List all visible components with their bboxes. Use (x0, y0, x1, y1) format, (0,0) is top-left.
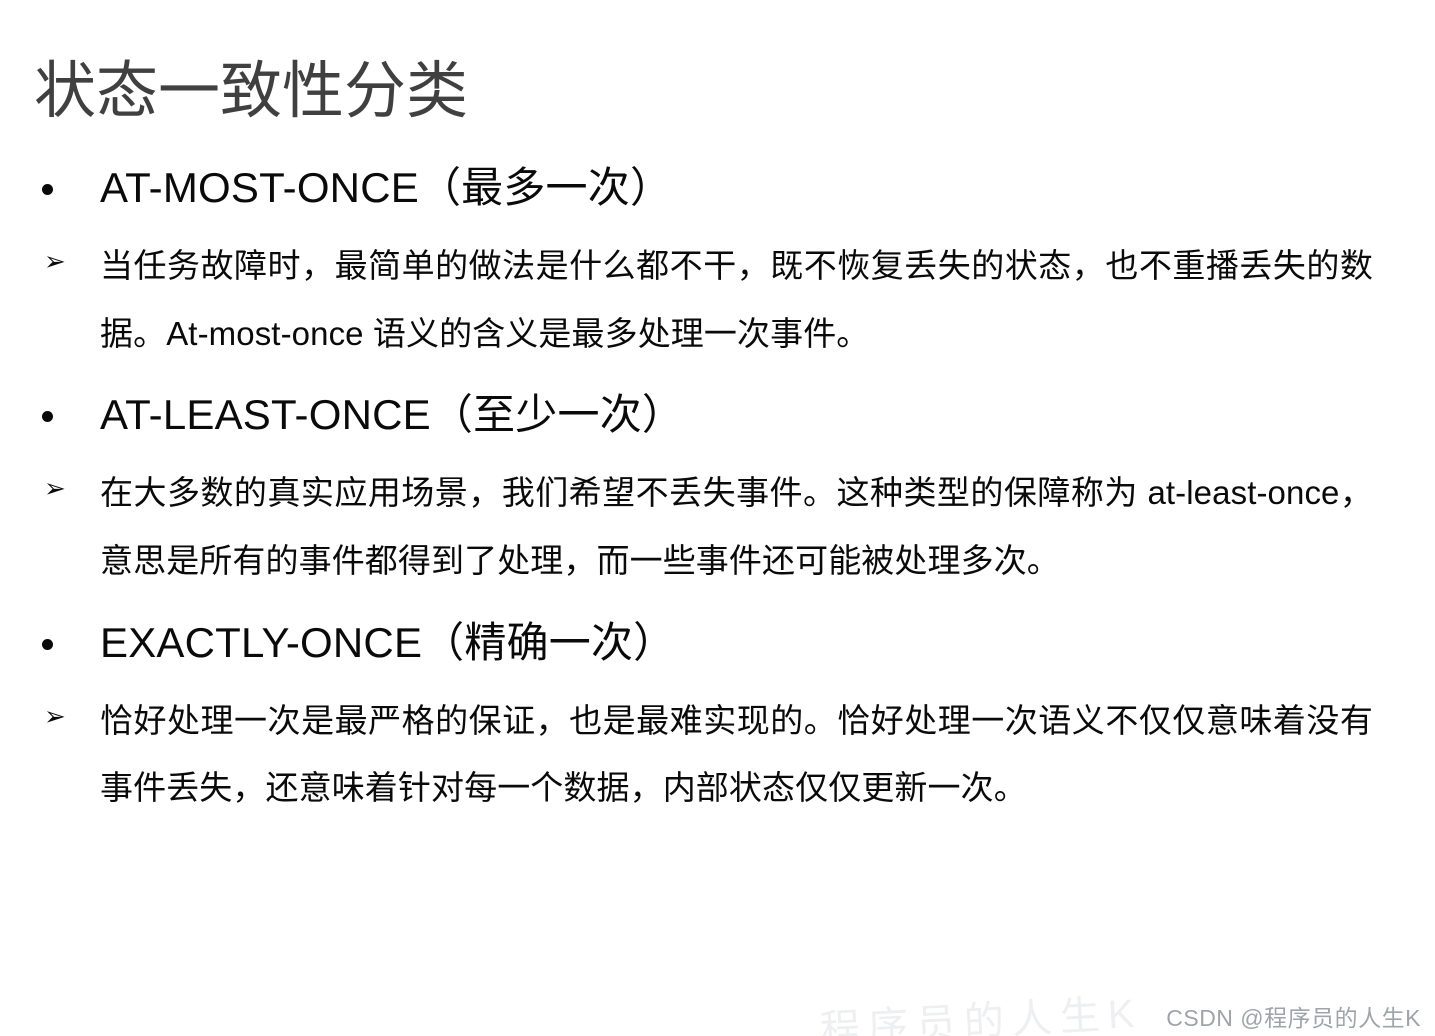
detail-text-at-most-once: 当任务故障时，最简单的做法是什么都不干，既不恢复丢失的状态，也不重播丢失的数据。… (100, 232, 1373, 367)
arrowhead-bullet-icon: ➢ (44, 248, 66, 274)
bullet-at-least-once[interactable]: AT-LEAST-ONCE（至少一次） (0, 385, 1435, 447)
detail-at-least-once: ➢ 在大多数的真实应用场景，我们希望不丢失事件。这种类型的保障称为 at-lea… (0, 459, 1435, 594)
arrowhead-bullet-icon: ➢ (44, 475, 66, 501)
arrowhead-bullet-icon: ➢ (44, 703, 66, 729)
detail-at-most-once: ➢ 当任务故障时，最简单的做法是什么都不干，既不恢复丢失的状态，也不重播丢失的数… (0, 232, 1435, 367)
bullet-label-at-most-once: AT-MOST-ONCE（最多一次） (100, 158, 1435, 219)
disc-bullet-icon (42, 411, 53, 422)
background-watermark: 程序员的人生K (819, 994, 1143, 1036)
detail-exactly-once: ➢ 恰好处理一次是最严格的保证，也是最难实现的。恰好处理一次语义不仅仅意味着没有… (0, 687, 1435, 822)
page-title: 状态一致性分类 (34, 50, 468, 134)
slide-root: 状态一致性分类 AT-MOST-ONCE（最多一次） ➢ 当任务故障时，最简单的… (0, 0, 1435, 1036)
detail-text-at-least-once: 在大多数的真实应用场景，我们希望不丢失事件。这种类型的保障称为 at-least… (100, 459, 1373, 594)
bullet-at-most-once[interactable]: AT-MOST-ONCE（最多一次） (0, 158, 1435, 220)
bullet-exactly-once[interactable]: EXACTLY-ONCE（精确一次） (0, 613, 1435, 675)
disc-bullet-icon (42, 184, 53, 195)
detail-text-exactly-once: 恰好处理一次是最严格的保证，也是最难实现的。恰好处理一次语义不仅仅意味着没有事件… (100, 687, 1373, 822)
bullet-label-exactly-once: EXACTLY-ONCE（精确一次） (100, 613, 1435, 674)
slide-body: AT-MOST-ONCE（最多一次） ➢ 当任务故障时，最简单的做法是什么都不干… (0, 158, 1435, 836)
csdn-watermark: CSDN @程序员的人生K (1166, 1007, 1421, 1030)
bullet-label-at-least-once: AT-LEAST-ONCE（至少一次） (100, 385, 1435, 446)
disc-bullet-icon (42, 639, 53, 650)
